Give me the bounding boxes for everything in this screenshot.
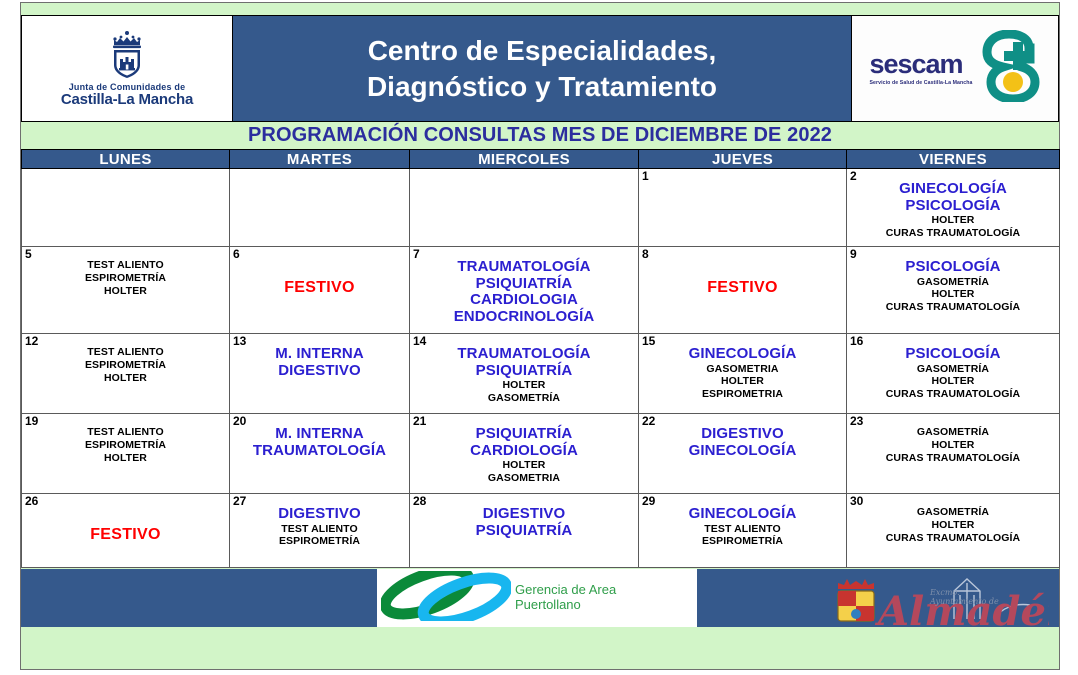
specialty-label: CARDIOLOGIA [412,292,636,309]
test-label: HOLTER [412,459,636,472]
almaden-skyline-icon: Almadén Excmo. Ayuntamiento de [834,573,1049,635]
almaden-sub-line1: Excmo. [929,588,960,597]
calendar-week-row: 26FESTIVO27DIGESTIVOTEST ALIENTOESPIROME… [22,494,1060,568]
specialty-label: DIGESTIVO [232,506,407,523]
test-label: CURAS TRAUMATOLOGÍA [849,388,1057,401]
test-label: GASOMETRIA [641,363,844,376]
day-number: 19 [25,415,38,427]
month-banner: PROGRAMACIÓN CONSULTAS MES DE DICIEMBRE … [21,124,1059,146]
test-label: CURAS TRAUMATOLOGÍA [849,227,1057,240]
month-banner-text: PROGRAMACIÓN CONSULTAS MES DE DICIEMBRE … [248,124,832,147]
specialty-label: ENDOCRINOLOGÍA [412,309,636,326]
day-cell-content: FESTIVO [230,247,409,301]
specialty-label: DIGESTIVO [412,506,636,523]
day-number: 26 [25,495,38,507]
day-number: 16 [850,335,863,347]
specialty-label: DIGESTIVO [641,426,844,443]
test-label: HOLTER [641,375,844,388]
specialty-label: GINECOLOGÍA [849,181,1057,198]
calendar-day-cell-5[interactable]: 5TEST ALIENTOESPIROMETRÍAHOLTER [22,247,230,334]
specialty-label: GINECOLOGÍA [641,506,844,523]
calendar-day-cell-empty[interactable] [410,169,639,247]
test-label: GASOMETRÍA [849,276,1057,289]
calendar-day-cell-29[interactable]: 29GINECOLOGÍATEST ALIENTOESPIROMETRÍA [639,494,847,568]
day-cell-content: PSIQUIATRÍACARDIOLOGÍAHOLTERGASOMETRIA [410,414,638,489]
specialty-label: GINECOLOGÍA [641,443,844,460]
page-title-line1: Centro de Especialidades, [368,33,717,69]
day-cell-content: TEST ALIENTOESPIROMETRÍAHOLTER [22,247,229,301]
test-label: HOLTER [849,214,1057,227]
test-label: TEST ALIENTO [232,523,407,536]
calendar-table: LUNESMARTESMIERCOLESJUEVESVIERNES 12GINE… [21,149,1060,568]
calendar-day-cell-15[interactable]: 15GINECOLOGÍAGASOMETRIAHOLTERESPIROMETRI… [639,334,847,414]
day-number: 22 [642,415,655,427]
calendar-week-row: 12TEST ALIENTOESPIROMETRÍAHOLTER13M. INT… [22,334,1060,414]
day-number: 28 [413,495,426,507]
test-label: HOLTER [849,439,1057,452]
calendar-day-cell-empty[interactable] [22,169,230,247]
specialty-label: M. INTERNA [232,346,407,363]
day-cell-content: DIGESTIVOTEST ALIENTOESPIROMETRÍA [230,494,409,552]
day-number: 5 [25,248,32,260]
day-number: 13 [233,335,246,347]
day-cell-content: DIGESTIVOGINECOLOGÍA [639,414,846,463]
day-cell-content: TEST ALIENTOESPIROMETRÍAHOLTER [22,334,229,388]
weekday-header-viernes: VIERNES [847,150,1060,169]
test-label: HOLTER [24,285,227,298]
calendar-week-row: 5TEST ALIENTOESPIROMETRÍAHOLTER6FESTIVO7… [22,247,1060,334]
sescam-tagline: Servicio de Salud de Castilla-La Mancha [869,80,972,86]
calendar-day-cell-13[interactable]: 13M. INTERNADIGESTIVO [230,334,410,414]
calendar-day-cell-21[interactable]: 21PSIQUIATRÍACARDIOLOGÍAHOLTERGASOMETRIA [410,414,639,494]
holiday-label: FESTIVO [641,279,844,297]
sescam-wordmark: sescam [869,51,972,78]
calendar-week-row: 19TEST ALIENTOESPIROMETRÍAHOLTER20M. INT… [22,414,1060,494]
test-label: HOLTER [24,452,227,465]
test-label: TEST ALIENTO [24,426,227,439]
calendar-day-cell-20[interactable]: 20M. INTERNATRAUMATOLOGÍA [230,414,410,494]
gerencia-ellipses-icon [381,571,511,626]
day-cell-content: TEST ALIENTOESPIROMETRÍAHOLTER [22,414,229,468]
day-cell-content [230,169,409,185]
holiday-label: FESTIVO [24,526,227,544]
calendar-day-cell-9[interactable]: 9PSICOLOGÍAGASOMETRÍAHOLTERCURAS TRAUMAT… [847,247,1060,334]
footer-spacer [21,569,377,627]
test-label: HOLTER [849,519,1057,532]
weekday-header-jueves: JUEVES [639,150,847,169]
day-cell-content [639,169,846,185]
specialty-label: DIGESTIVO [232,363,407,380]
day-cell-content: DIGESTIVOPSIQUIATRÍA [410,494,638,543]
calendar-day-cell-7[interactable]: 7TRAUMATOLOGÍAPSIQUIATRÍACARDIOLOGIAENDO… [410,247,639,334]
almaden-coat-of-arms-icon [838,579,874,621]
test-label: CURAS TRAUMATOLOGÍA [849,301,1057,314]
castilla-la-mancha-shield-icon [105,29,149,79]
day-number: 6 [233,248,240,260]
calendar-page: Junta de Comunidades de Castilla-La Manc… [0,0,1078,675]
test-label: ESPIROMETRÍA [24,359,227,372]
page-title: Centro de Especialidades, Diagnóstico y … [233,16,851,121]
test-label: TEST ALIENTO [24,346,227,359]
day-cell-content: GASOMETRÍAHOLTERCURAS TRAUMATOLOGÍA [847,494,1059,548]
day-cell-content: GINECOLOGÍATEST ALIENTOESPIROMETRÍA [639,494,846,552]
calendar-day-cell-30[interactable]: 30GASOMETRÍAHOLTERCURAS TRAUMATOLOGÍA [847,494,1060,568]
test-label: TEST ALIENTO [24,259,227,272]
weekday-header-lunes: LUNES [22,150,230,169]
calendar-day-cell-19[interactable]: 19TEST ALIENTOESPIROMETRÍAHOLTER [22,414,230,494]
day-cell-content: FESTIVO [22,494,229,548]
test-label: HOLTER [849,288,1057,301]
jccm-logo: Junta de Comunidades de Castilla-La Manc… [22,16,233,121]
day-number: 29 [642,495,655,507]
test-label: HOLTER [412,379,636,392]
almaden-logo: Almadén Excmo. Ayuntamiento de [834,573,1049,635]
specialty-label: CARDIOLOGÍA [412,443,636,460]
test-label: ESPIROMETRÍA [24,272,227,285]
day-cell-content: PSICOLOGÍAGASOMETRÍAHOLTERCURAS TRAUMATO… [847,247,1059,318]
header-bar: Junta de Comunidades de Castilla-La Manc… [21,15,1059,122]
day-number: 8 [642,248,649,260]
gerencia-line1: Gerencia de Area [515,583,616,598]
calendar-day-cell-22[interactable]: 22DIGESTIVOGINECOLOGÍA [639,414,847,494]
specialty-label: M. INTERNA [232,426,407,443]
day-number: 21 [413,415,426,427]
almaden-sub-line2: Ayuntamiento de [929,597,999,606]
specialty-label: GINECOLOGÍA [641,346,844,363]
calendar-day-cell-16[interactable]: 16PSICOLOGÍAGASOMETRÍAHOLTERCURAS TRAUMA… [847,334,1060,414]
calendar-day-cell-26[interactable]: 26FESTIVO [22,494,230,568]
test-label: CURAS TRAUMATOLOGÍA [849,452,1057,465]
test-label: CURAS TRAUMATOLOGÍA [849,532,1057,545]
calendar-week-row: 12GINECOLOGÍAPSICOLOGÍAHOLTERCURAS TRAUM… [22,169,1060,247]
gerencia-logo: Gerencia de Area Puertollano [377,569,697,627]
day-number: 2 [850,170,857,182]
specialty-label: PSIQUIATRÍA [412,523,636,540]
test-label: HOLTER [849,375,1057,388]
test-label: GASOMETRÍA [412,392,636,405]
day-number: 12 [25,335,38,347]
calendar-day-cell-12[interactable]: 12TEST ALIENTOESPIROMETRÍAHOLTER [22,334,230,414]
holiday-label: FESTIVO [232,279,407,297]
day-number: 20 [233,415,246,427]
test-label: ESPIROMETRÍA [24,439,227,452]
day-cell-content [22,169,229,185]
day-cell-content: TRAUMATOLOGÍAPSIQUIATRÍAHOLTERGASOMETRÍA [410,334,638,409]
weekday-header-martes: MARTES [230,150,410,169]
specialty-label: PSIQUIATRÍA [412,276,636,293]
almaden-logo-area: Almadén Excmo. Ayuntamiento de [697,569,1059,627]
test-label: GASOMETRÍA [849,506,1057,519]
day-number: 15 [642,335,655,347]
test-label: TEST ALIENTO [641,523,844,536]
calendar-day-cell-28[interactable]: 28DIGESTIVOPSIQUIATRÍA [410,494,639,568]
calendar-day-cell-empty[interactable] [230,169,410,247]
test-label: ESPIROMETRÍA [232,535,407,548]
test-label: GASOMETRÍA [849,426,1057,439]
calendar-day-cell-14[interactable]: 14TRAUMATOLOGÍAPSIQUIATRÍAHOLTERGASOMETR… [410,334,639,414]
day-number: 9 [850,248,857,260]
day-number: 1 [642,170,649,182]
specialty-label: TRAUMATOLOGÍA [232,443,407,460]
sescam-logo: sescam Servicio de Salud de Castilla-La … [851,16,1058,121]
footer-bar: Gerencia de Area Puertollano [21,569,1059,627]
calendar-body: 12GINECOLOGÍAPSICOLOGÍAHOLTERCURAS TRAUM… [22,169,1060,568]
specialty-label: TRAUMATOLOGÍA [412,259,636,276]
day-cell-content: M. INTERNADIGESTIVO [230,334,409,383]
jccm-logo-line2: Castilla-La Mancha [61,92,193,109]
page-title-line2: Diagnóstico y Tratamiento [367,69,717,105]
day-cell-content: GINECOLOGÍAPSICOLOGÍAHOLTERCURAS TRAUMAT… [847,169,1059,244]
test-label: GASOMETRIA [412,472,636,485]
specialty-label: PSIQUIATRÍA [412,426,636,443]
day-number: 14 [413,335,426,347]
footer-green-strip [21,629,1059,653]
day-cell-content: GINECOLOGÍAGASOMETRIAHOLTERESPIROMETRIA [639,334,846,405]
day-cell-content: M. INTERNATRAUMATOLOGÍA [230,414,409,463]
calendar-day-cell-1[interactable]: 1 [639,169,847,247]
calendar-day-cell-2[interactable]: 2GINECOLOGÍAPSICOLOGÍAHOLTERCURAS TRAUMA… [847,169,1060,247]
weekday-header-row: LUNESMARTESMIERCOLESJUEVESVIERNES [22,150,1060,169]
almaden-wordmark: Almadén [874,588,1049,635]
test-label: GASOMETRÍA [849,363,1057,376]
calendar-day-cell-8[interactable]: 8FESTIVO [639,247,847,334]
gerencia-line2: Puertollano [515,598,616,613]
day-cell-content: PSICOLOGÍAGASOMETRÍAHOLTERCURAS TRAUMATO… [847,334,1059,405]
sescam-s-cross-icon [979,30,1041,107]
specialty-label: TRAUMATOLOGÍA [412,346,636,363]
calendar-day-cell-6[interactable]: 6FESTIVO [230,247,410,334]
day-cell-content: FESTIVO [639,247,846,301]
specialty-label: PSICOLOGÍA [849,346,1057,363]
day-number: 23 [850,415,863,427]
weekday-header-miercoles: MIERCOLES [410,150,639,169]
day-number: 30 [850,495,863,507]
specialty-label: PSICOLOGÍA [849,259,1057,276]
day-cell-content [410,169,638,185]
day-cell-content: TRAUMATOLOGÍAPSIQUIATRÍACARDIOLOGIAENDOC… [410,247,638,329]
calendar-day-cell-27[interactable]: 27DIGESTIVOTEST ALIENTOESPIROMETRÍA [230,494,410,568]
test-label: HOLTER [24,372,227,385]
day-number: 7 [413,248,420,260]
test-label: ESPIROMETRÍA [641,535,844,548]
calendar-day-cell-23[interactable]: 23GASOMETRÍAHOLTERCURAS TRAUMATOLOGÍA [847,414,1060,494]
specialty-label: PSICOLOGÍA [849,198,1057,215]
day-cell-content: GASOMETRÍAHOLTERCURAS TRAUMATOLOGÍA [847,414,1059,468]
test-label: ESPIROMETRIA [641,388,844,401]
day-number: 27 [233,495,246,507]
specialty-label: PSIQUIATRÍA [412,363,636,380]
